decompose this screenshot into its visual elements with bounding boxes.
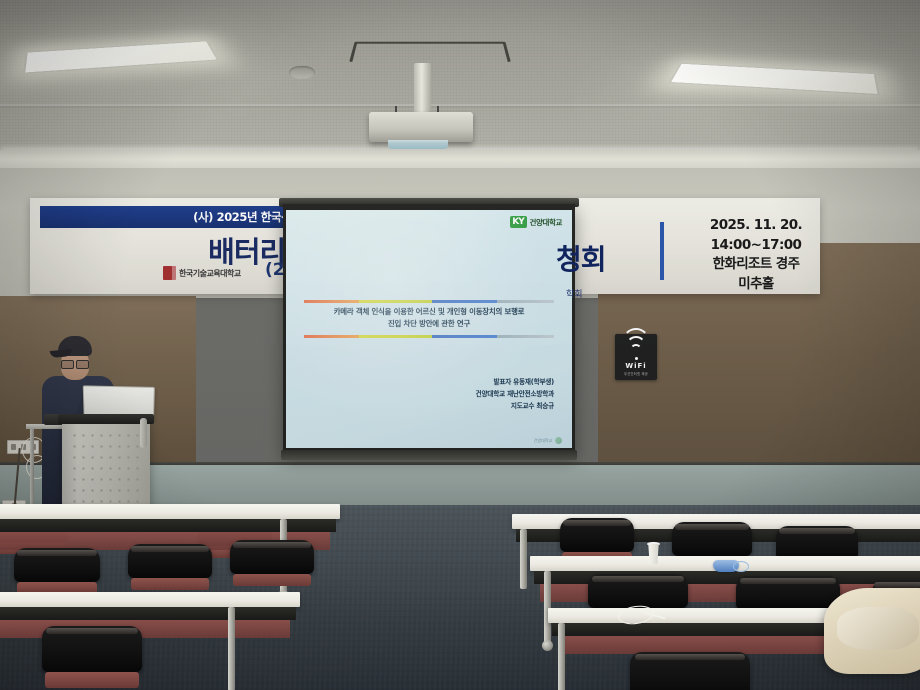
presenter-glasses-icon <box>61 360 89 367</box>
wifi-dot-icon <box>635 357 638 360</box>
coat-on-chair <box>824 588 920 674</box>
wifi-arc-inner <box>630 344 642 356</box>
rule-segment-orange <box>304 300 359 303</box>
ky-name-text: 건양대학교 <box>530 217 563 228</box>
chair-seat <box>131 578 210 590</box>
slide-title: 카메라 객체 인식을 이용한 어르신 및 개인형 이동장치의 보행로 진입 차단… <box>302 306 556 330</box>
chair <box>128 544 212 598</box>
chair-back <box>230 540 314 574</box>
table-apron <box>0 607 296 620</box>
chair-back <box>14 548 100 582</box>
slide-title-line1: 카메라 객체 인식을 이용한 어르신 및 개인형 이동장치의 보행로 <box>302 306 556 318</box>
konyang-university-logo: KY 건양대학교 <box>510 216 563 228</box>
face-mask-strap <box>733 561 749 572</box>
chair-back <box>776 526 858 560</box>
rule-segment-orange <box>304 335 359 338</box>
projector-icon <box>369 112 473 142</box>
seminar-room-photo: (사) 2025년 한국산학기술학회 추계학술대회 배터리 활용성 증대 (2 … <box>0 0 920 690</box>
rule-segment-gray <box>497 300 555 303</box>
slide-presenter: 발표자 유동재(학부생) <box>374 376 554 388</box>
banner-right-sub: 학회 <box>566 287 583 300</box>
table-top <box>0 592 300 607</box>
slide-department: 건양대학교 재난안전소방학과 <box>374 388 554 400</box>
banner-logo-text: 한국기술교육대학교 <box>179 268 241 279</box>
rule-segment-blue <box>432 335 497 338</box>
chair-back <box>560 518 634 552</box>
table-leg <box>558 623 565 690</box>
outlet-socket <box>11 444 16 450</box>
banner-event-info: 2025. 11. 20. 14:00~17:00 한화리조트 경주 미추홀 <box>700 216 812 294</box>
chair-back <box>128 544 212 578</box>
projected-slide: KY 건양대학교 카메라 객체 인식을 이용한 어르신 및 개인형 이동장치의 … <box>286 210 572 448</box>
chair-seat <box>233 574 312 586</box>
ceiling-seam <box>0 104 920 106</box>
rule-segment-blue <box>432 300 497 303</box>
chair-back <box>630 652 750 690</box>
ky-mark-icon: KY <box>510 216 527 228</box>
slide-footer-mark-icon <box>555 437 562 444</box>
chair-back <box>588 574 688 608</box>
projection-screen-bottom-bar <box>281 450 577 460</box>
table-top <box>0 504 340 519</box>
rule-segment-lime <box>359 335 432 338</box>
slide-advisor: 지도교수 최승규 <box>374 400 554 412</box>
slide-rule-bottom <box>304 335 554 338</box>
chair <box>230 540 314 594</box>
rule-segment-lime <box>359 300 432 303</box>
ceiling-speaker-icon <box>289 66 315 79</box>
table-leg <box>520 529 527 589</box>
wifi-label: WiFi <box>625 362 646 370</box>
chair <box>42 626 142 690</box>
projector-bracket <box>349 42 511 62</box>
koreatech-logo-icon <box>163 266 176 280</box>
banner-divider <box>660 222 664 280</box>
slide-author-block: 발표자 유동재(학부생) 건양대학교 재난안전소방학과 지도교수 최승규 <box>374 376 554 413</box>
chair-seat <box>45 672 139 688</box>
glasses-lens-right <box>76 360 89 369</box>
slide-footer-text: 건양대학교 <box>534 438 552 444</box>
chair <box>630 652 750 690</box>
slide-footer-logo: 건양대학교 <box>534 437 562 444</box>
chair-back <box>42 626 142 672</box>
slide-rule-top <box>304 300 554 303</box>
table-leg <box>228 607 235 690</box>
banner-title-suffix: (2 <box>265 260 285 280</box>
wifi-icon <box>623 339 649 356</box>
banner-sponsor-logo: 한국기술교육대학교 <box>163 266 241 280</box>
wifi-sublabel: 무선인터넷 제공 <box>624 371 648 376</box>
projector-lens-icon <box>388 140 448 149</box>
chair-back <box>736 576 840 610</box>
wifi-sign: WiFi 무선인터넷 제공 <box>615 334 657 380</box>
chair-back <box>672 522 752 556</box>
glasses-lens-left <box>61 360 74 369</box>
podium-side-rail <box>140 418 147 448</box>
banner-right-word: 청회 <box>556 238 606 278</box>
slide-title-line2: 진입 차단 방안에 관한 연구 <box>302 318 556 330</box>
rule-segment-gray <box>497 335 555 338</box>
